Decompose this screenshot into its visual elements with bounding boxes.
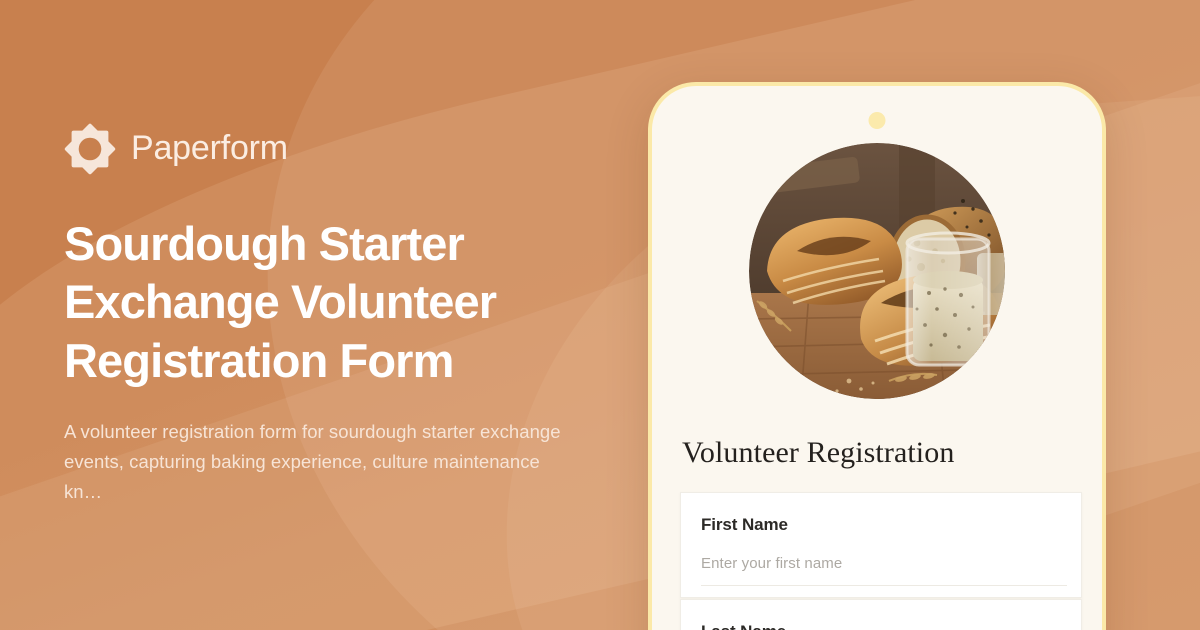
- camera-dot-icon: [869, 112, 886, 129]
- form-header-photo: [749, 143, 1005, 399]
- first-name-input[interactable]: Enter your first name: [701, 555, 1067, 586]
- page-description: A volunteer registration form for sourdo…: [64, 417, 576, 507]
- og-image-canvas: Paperform Sourdough Starter Exchange Vol…: [0, 0, 1200, 630]
- field-label: Last Name: [701, 622, 786, 630]
- form-heading: Volunteer Registration: [682, 436, 954, 470]
- form-field-first-name[interactable]: First Name Enter your first name: [680, 492, 1082, 598]
- brand-name: Paperform: [131, 129, 288, 168]
- device-mockup: Volunteer Registration First Name Enter …: [648, 82, 1106, 630]
- hero-content: Paperform Sourdough Starter Exchange Vol…: [64, 0, 624, 630]
- field-label: First Name: [701, 515, 788, 535]
- sourdough-bread-photo-illustration: [749, 143, 1005, 399]
- page-title: Sourdough Starter Exchange Volunteer Reg…: [64, 215, 564, 391]
- paperform-logo-icon: [64, 123, 116, 175]
- form-field-last-name[interactable]: Last Name Enter your last name: [680, 599, 1082, 630]
- brand-lockup: Paperform: [64, 123, 624, 175]
